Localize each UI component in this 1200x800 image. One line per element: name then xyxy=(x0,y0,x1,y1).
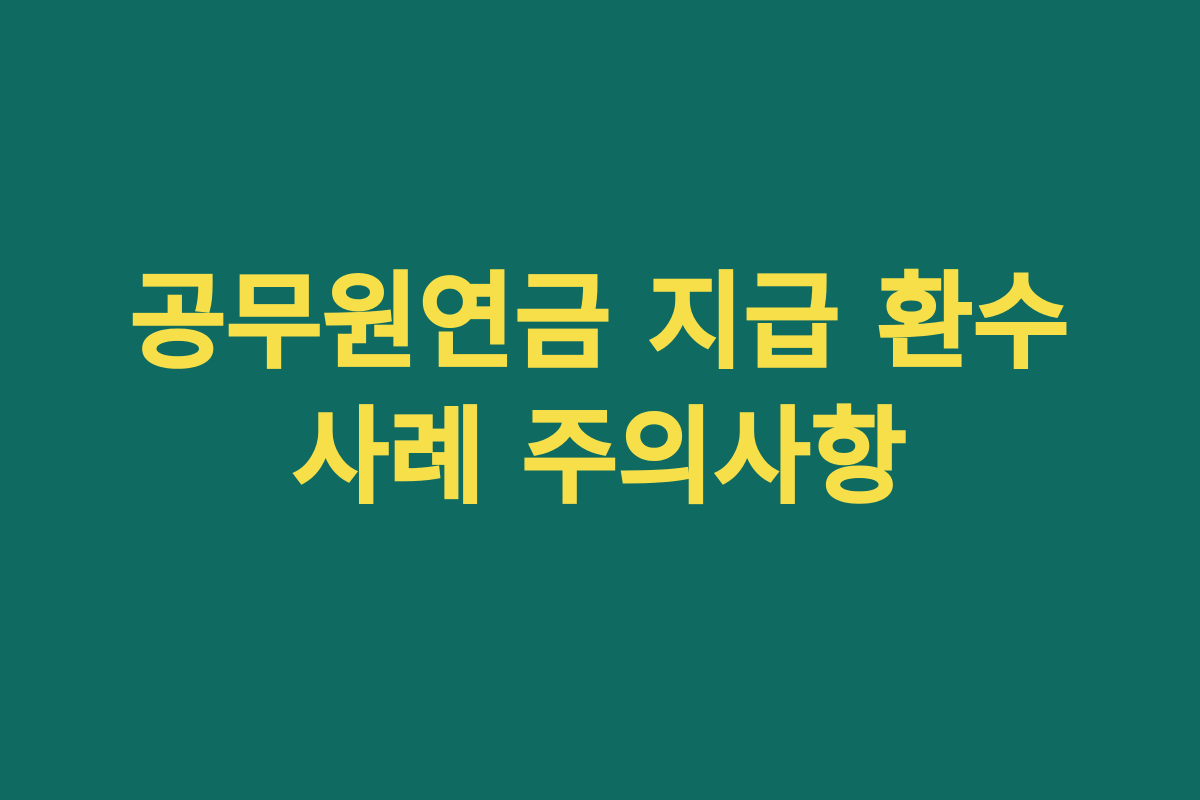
title-block: 공무원연금 지급 환수 사례 주의사항 xyxy=(0,255,1200,525)
title-line-1: 공무원연금 지급 환수 xyxy=(40,255,1160,390)
title-line-2: 사례 주의사항 xyxy=(40,390,1160,525)
thumbnail-card: 공무원연금 지급 환수 사례 주의사항 xyxy=(0,0,1200,800)
